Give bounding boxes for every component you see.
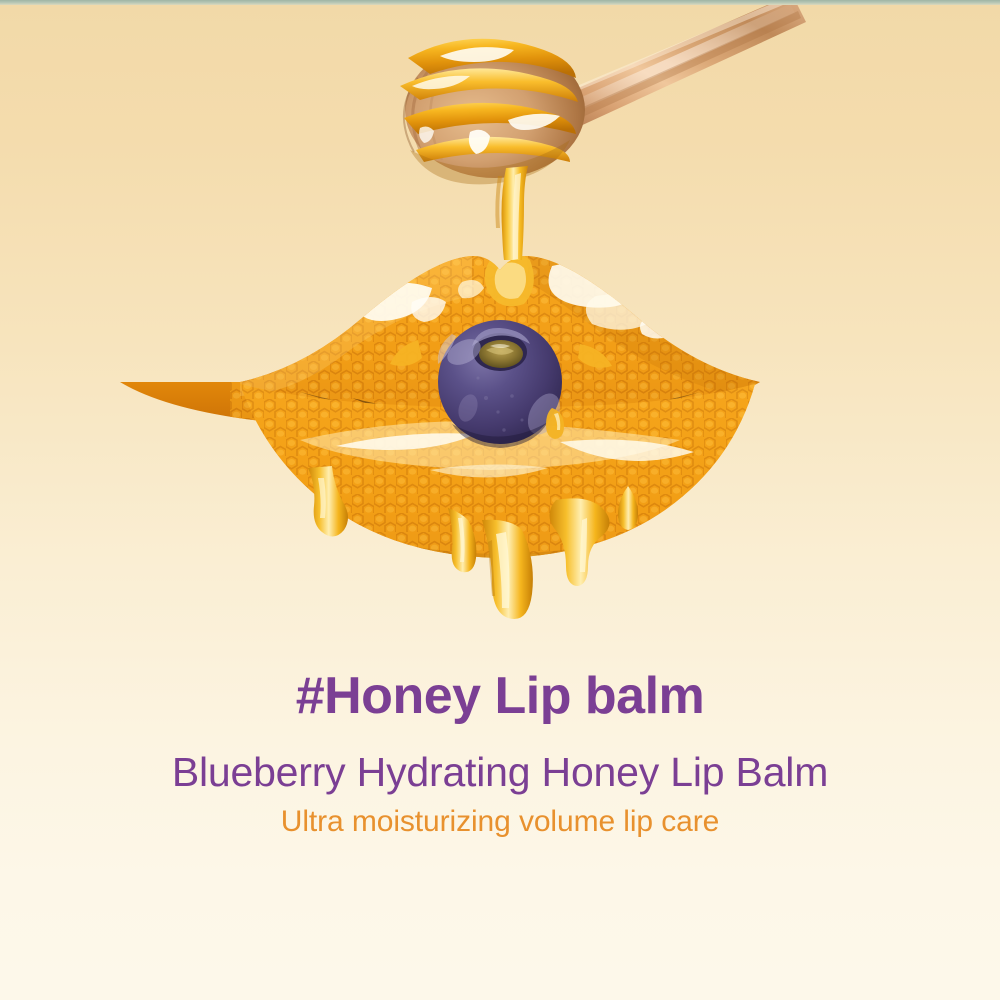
honey-stream: [495, 166, 528, 260]
copy-block: #Honey Lip balm Blueberry Hydrating Hone…: [0, 668, 1000, 838]
honey-dipper: [0, 0, 1000, 260]
dipper-head: [400, 39, 585, 185]
dipper-handle: [560, 0, 806, 128]
headline: #Honey Lip balm: [0, 668, 1000, 724]
tagline: Ultra moisturizing volume lip care: [0, 805, 1000, 838]
product-banner: #Honey Lip balm Blueberry Hydrating Hone…: [0, 0, 1000, 1000]
top-border-strip: [0, 0, 1000, 5]
product-name: Blueberry Hydrating Honey Lip Balm: [0, 750, 1000, 795]
